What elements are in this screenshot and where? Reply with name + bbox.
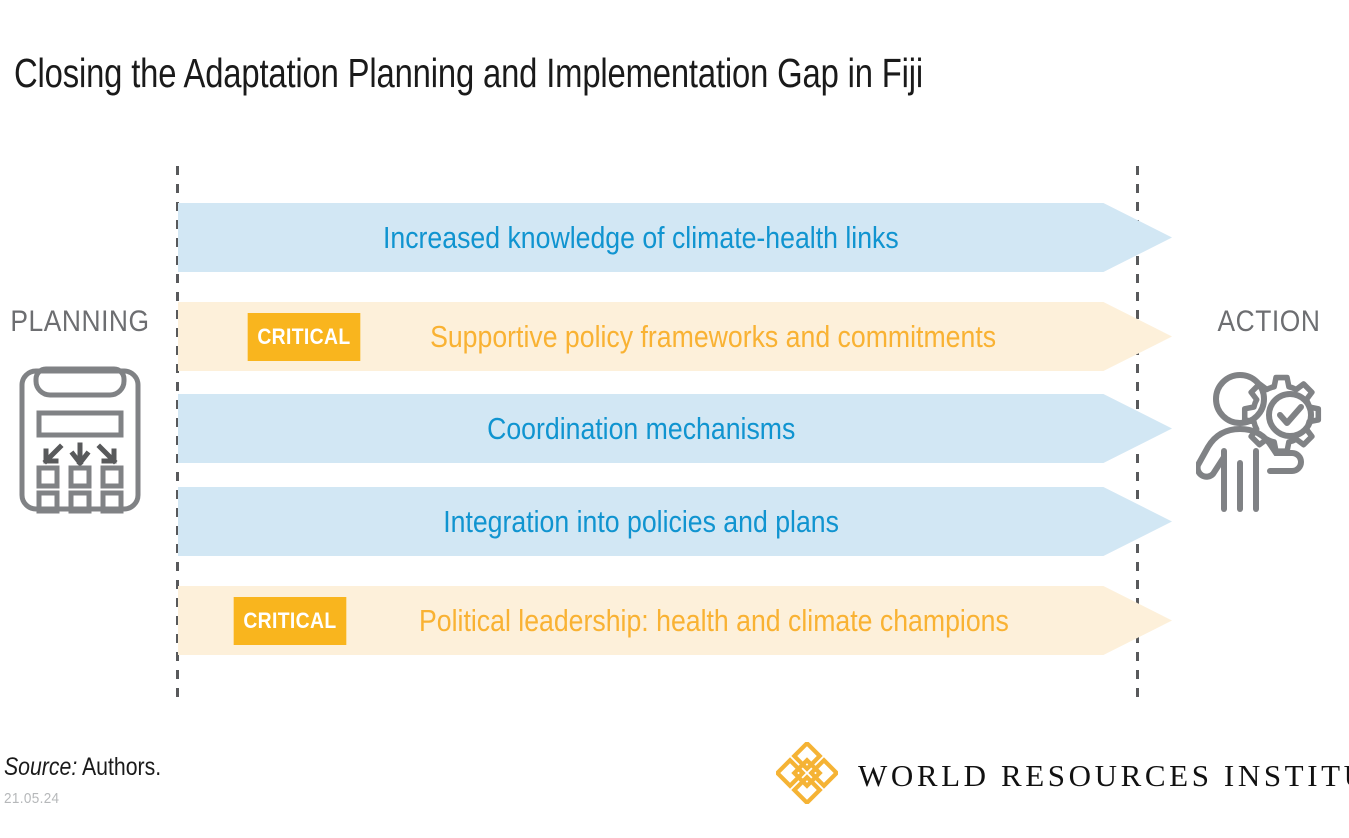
enabler-label-5: Political leadership: health and climate… bbox=[419, 603, 1009, 639]
planning-axis-group: PLANNING bbox=[0, 305, 160, 515]
action-axis-group: ACTION bbox=[1189, 305, 1349, 515]
bar-content-4: Integration into policies and plans bbox=[411, 504, 871, 540]
critical-badge-5: CRITICAL bbox=[233, 597, 346, 645]
enabler-bar-4: Integration into policies and plans bbox=[178, 487, 1172, 556]
enabler-bar-1: Increased knowledge of climate-health li… bbox=[178, 203, 1172, 272]
wri-wordmark: WORLD RESOURCES INSTITUTE bbox=[858, 759, 1349, 793]
person-gear-check-icon bbox=[1189, 355, 1349, 515]
bar-content-2: CRITICAL Supportive policy frameworks an… bbox=[240, 313, 1043, 361]
source-note: Source: Authors. bbox=[4, 752, 161, 782]
enabler-label-2: Supportive policy frameworks and commitm… bbox=[430, 319, 996, 355]
bar-content-3: Coordination mechanisms bbox=[462, 411, 820, 447]
source-value: Authors. bbox=[82, 753, 161, 781]
enabler-bar-3: Coordination mechanisms bbox=[178, 394, 1172, 463]
enabler-label-4: Integration into policies and plans bbox=[443, 504, 839, 540]
publication-date: 21.05.24 bbox=[4, 790, 59, 808]
critical-badge-2: CRITICAL bbox=[247, 313, 360, 361]
wri-diamond-lattice-logo bbox=[776, 742, 838, 809]
infographic-chart: PLANNING ACTION bbox=[0, 0, 1349, 838]
enabler-bar-5: CRITICAL Political leadership: health an… bbox=[178, 586, 1172, 655]
planning-axis-label: PLANNING bbox=[10, 305, 151, 339]
source-label: Source: bbox=[4, 753, 77, 781]
wri-logo: WORLD RESOURCES INSTITUTE bbox=[776, 742, 1349, 809]
enabler-label-3: Coordination mechanisms bbox=[487, 411, 795, 447]
enabler-label-1: Increased knowledge of climate-health li… bbox=[383, 220, 899, 256]
bar-content-1: Increased knowledge of climate-health li… bbox=[341, 220, 941, 256]
action-axis-label: ACTION bbox=[1199, 305, 1340, 339]
bar-content-5: CRITICAL Political leadership: health an… bbox=[226, 597, 1057, 645]
clipboard-calculator-icon bbox=[0, 355, 160, 515]
enabler-bar-2: CRITICAL Supportive policy frameworks an… bbox=[178, 302, 1172, 371]
